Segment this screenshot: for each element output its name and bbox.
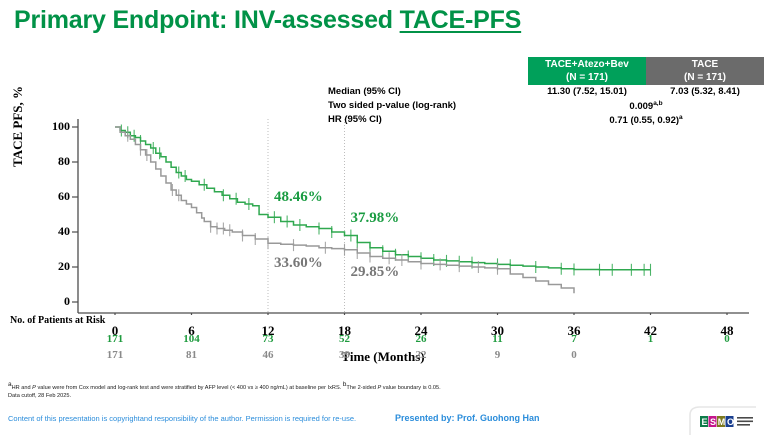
risk-cell-green-m30: 11 [478, 333, 518, 345]
annotation-37-98pct: 37.98% [351, 210, 400, 227]
footnote-line-2: Data cutoff, 28 Feb 2025. [8, 392, 688, 400]
footnote-line-1: aHR and P value were from Cox model and … [8, 381, 688, 392]
annotation-48-46pct: 48.46% [274, 189, 323, 206]
esmo-tagline [737, 417, 753, 426]
footnote-text-1d: The 2-sided [346, 385, 377, 391]
risk-cell-green-m48: 0 [707, 333, 747, 345]
risk-cell-green-m36: 7 [554, 333, 594, 345]
footnote-text-1f: value boundary is 0.05. [381, 385, 440, 391]
page-title-underlined: TACE-PFS [400, 6, 522, 34]
page-title-main: Primary Endpoint: INV-assessed [14, 6, 400, 34]
y-tick-100: 100 [36, 119, 70, 134]
y-tick-60: 60 [36, 189, 70, 204]
y-tick-80: 80 [36, 154, 70, 169]
risk-cell-grey-m6: 81 [172, 349, 212, 361]
km-chart: TACE PFS, % 020406080100 061218243036424… [0, 55, 766, 315]
risk-cell-green-m42: 1 [631, 333, 671, 345]
risk-cell-grey-m30: 9 [478, 349, 518, 361]
svg-text:E: E [702, 417, 708, 427]
risk-table: No. of Patients at Risk 1711047352261171… [0, 315, 766, 375]
risk-cell-grey-m36: 0 [554, 349, 594, 361]
svg-text:O: O [727, 417, 734, 427]
risk-cell-grey-m12: 46 [248, 349, 288, 361]
copyright-notice: Content of this presentation is copyrigh… [8, 414, 356, 423]
footnote-text-1a: HR and [12, 385, 33, 391]
y-axis-label: TACE PFS, % [10, 86, 26, 167]
risk-cell-green-m6: 104 [172, 333, 212, 345]
svg-text:S: S [710, 417, 716, 427]
y-tick-20: 20 [36, 259, 70, 274]
risk-cell-grey-m24: 22 [401, 349, 441, 361]
risk-cell-grey-m18: 39 [325, 349, 365, 361]
risk-cell-grey-m0: 171 [95, 349, 135, 361]
page-title: Primary Endpoint: INV-assessed TACE-PFS [14, 6, 521, 35]
y-tick-0: 0 [36, 294, 70, 309]
svg-text:M: M [718, 417, 726, 427]
risk-table-title: No. of Patients at Risk [10, 315, 105, 326]
risk-cell-green-m0: 171 [95, 333, 135, 345]
esmo-logo-mark: E S M O [686, 405, 758, 437]
footnote-text-1c: value were from Cox model and log-rank t… [36, 385, 343, 391]
annotation-29-85pct: 29.85% [351, 264, 400, 281]
footnotes: aHR and P value were from Cox model and … [8, 381, 688, 400]
esmo-logo: E S M O [686, 405, 758, 437]
risk-cell-green-m24: 26 [401, 333, 441, 345]
risk-cell-green-m12: 73 [248, 333, 288, 345]
km-curve-arm-b [115, 127, 574, 293]
risk-cell-green-m18: 52 [325, 333, 365, 345]
presented-by: Presented by: Prof. Guohong Han [395, 413, 540, 423]
annotation-33-60pct: 33.60% [274, 255, 323, 272]
y-tick-40: 40 [36, 224, 70, 239]
